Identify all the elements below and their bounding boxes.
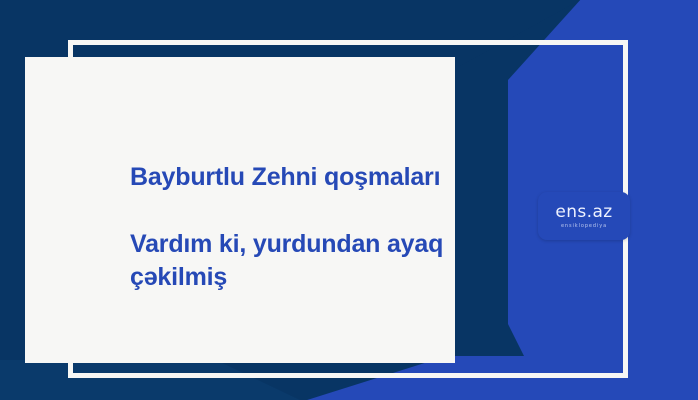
ens-az-logo-badge[interactable]: ens.az ensiklopediya bbox=[538, 192, 630, 240]
slide-title: Bayburtlu Zehni qoşmaları bbox=[130, 161, 450, 194]
slide-canvas: Bayburtlu Zehni qoşmaları Vardım ki, yur… bbox=[0, 0, 698, 400]
slide-subtitle: Vardım ki, yurdundan ayaq çəkilmiş bbox=[130, 228, 450, 294]
logo-tagline: ensiklopediya bbox=[561, 224, 607, 229]
card-text-block: Bayburtlu Zehni qoşmaları Vardım ki, yur… bbox=[130, 161, 450, 294]
logo-wordmark: ens.az bbox=[555, 204, 612, 221]
content-card: Bayburtlu Zehni qoşmaları Vardım ki, yur… bbox=[25, 57, 455, 363]
